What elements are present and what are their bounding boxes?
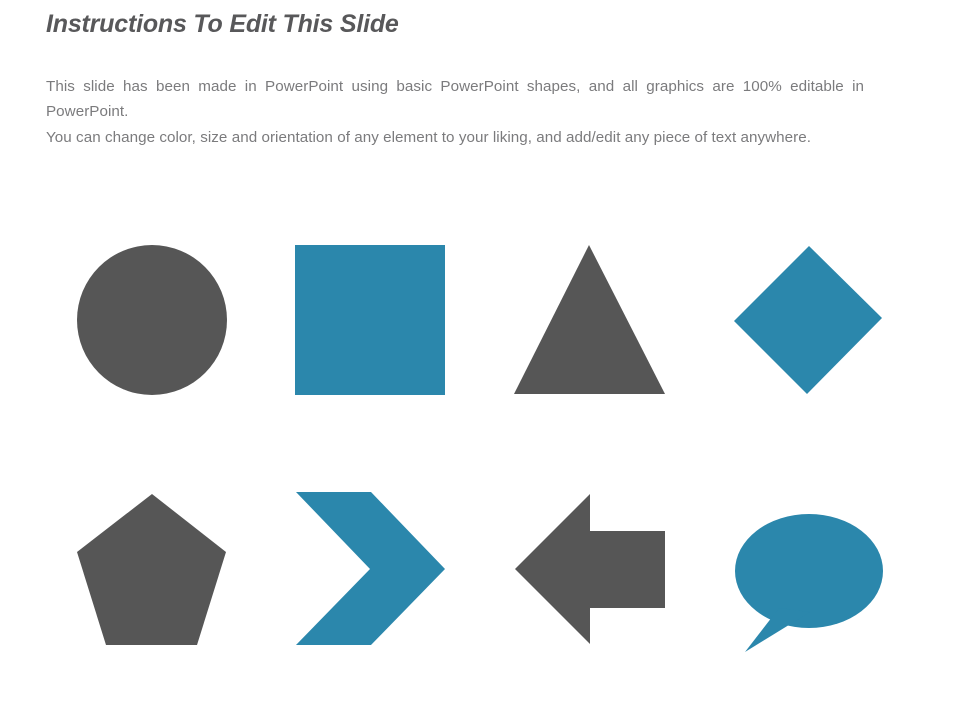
instructions-text-block: This slide has been made in PowerPoint u… <box>46 74 864 150</box>
pentagon-shape <box>77 494 226 645</box>
square-shape <box>295 245 445 395</box>
triangle-shape <box>514 245 665 394</box>
slide-canvas: Instructions To Edit This Slide This sli… <box>0 0 960 720</box>
instructions-paragraph-1: This slide has been made in PowerPoint u… <box>46 74 864 125</box>
instructions-paragraph-2: You can change color, size and orientati… <box>46 125 864 150</box>
chevron-shape <box>296 492 445 645</box>
speech-bubble-shape <box>735 514 883 652</box>
page-title: Instructions To Edit This Slide <box>46 10 399 39</box>
left-arrow-shape <box>515 494 665 644</box>
circle-shape <box>77 245 227 395</box>
diamond-shape <box>734 246 882 394</box>
